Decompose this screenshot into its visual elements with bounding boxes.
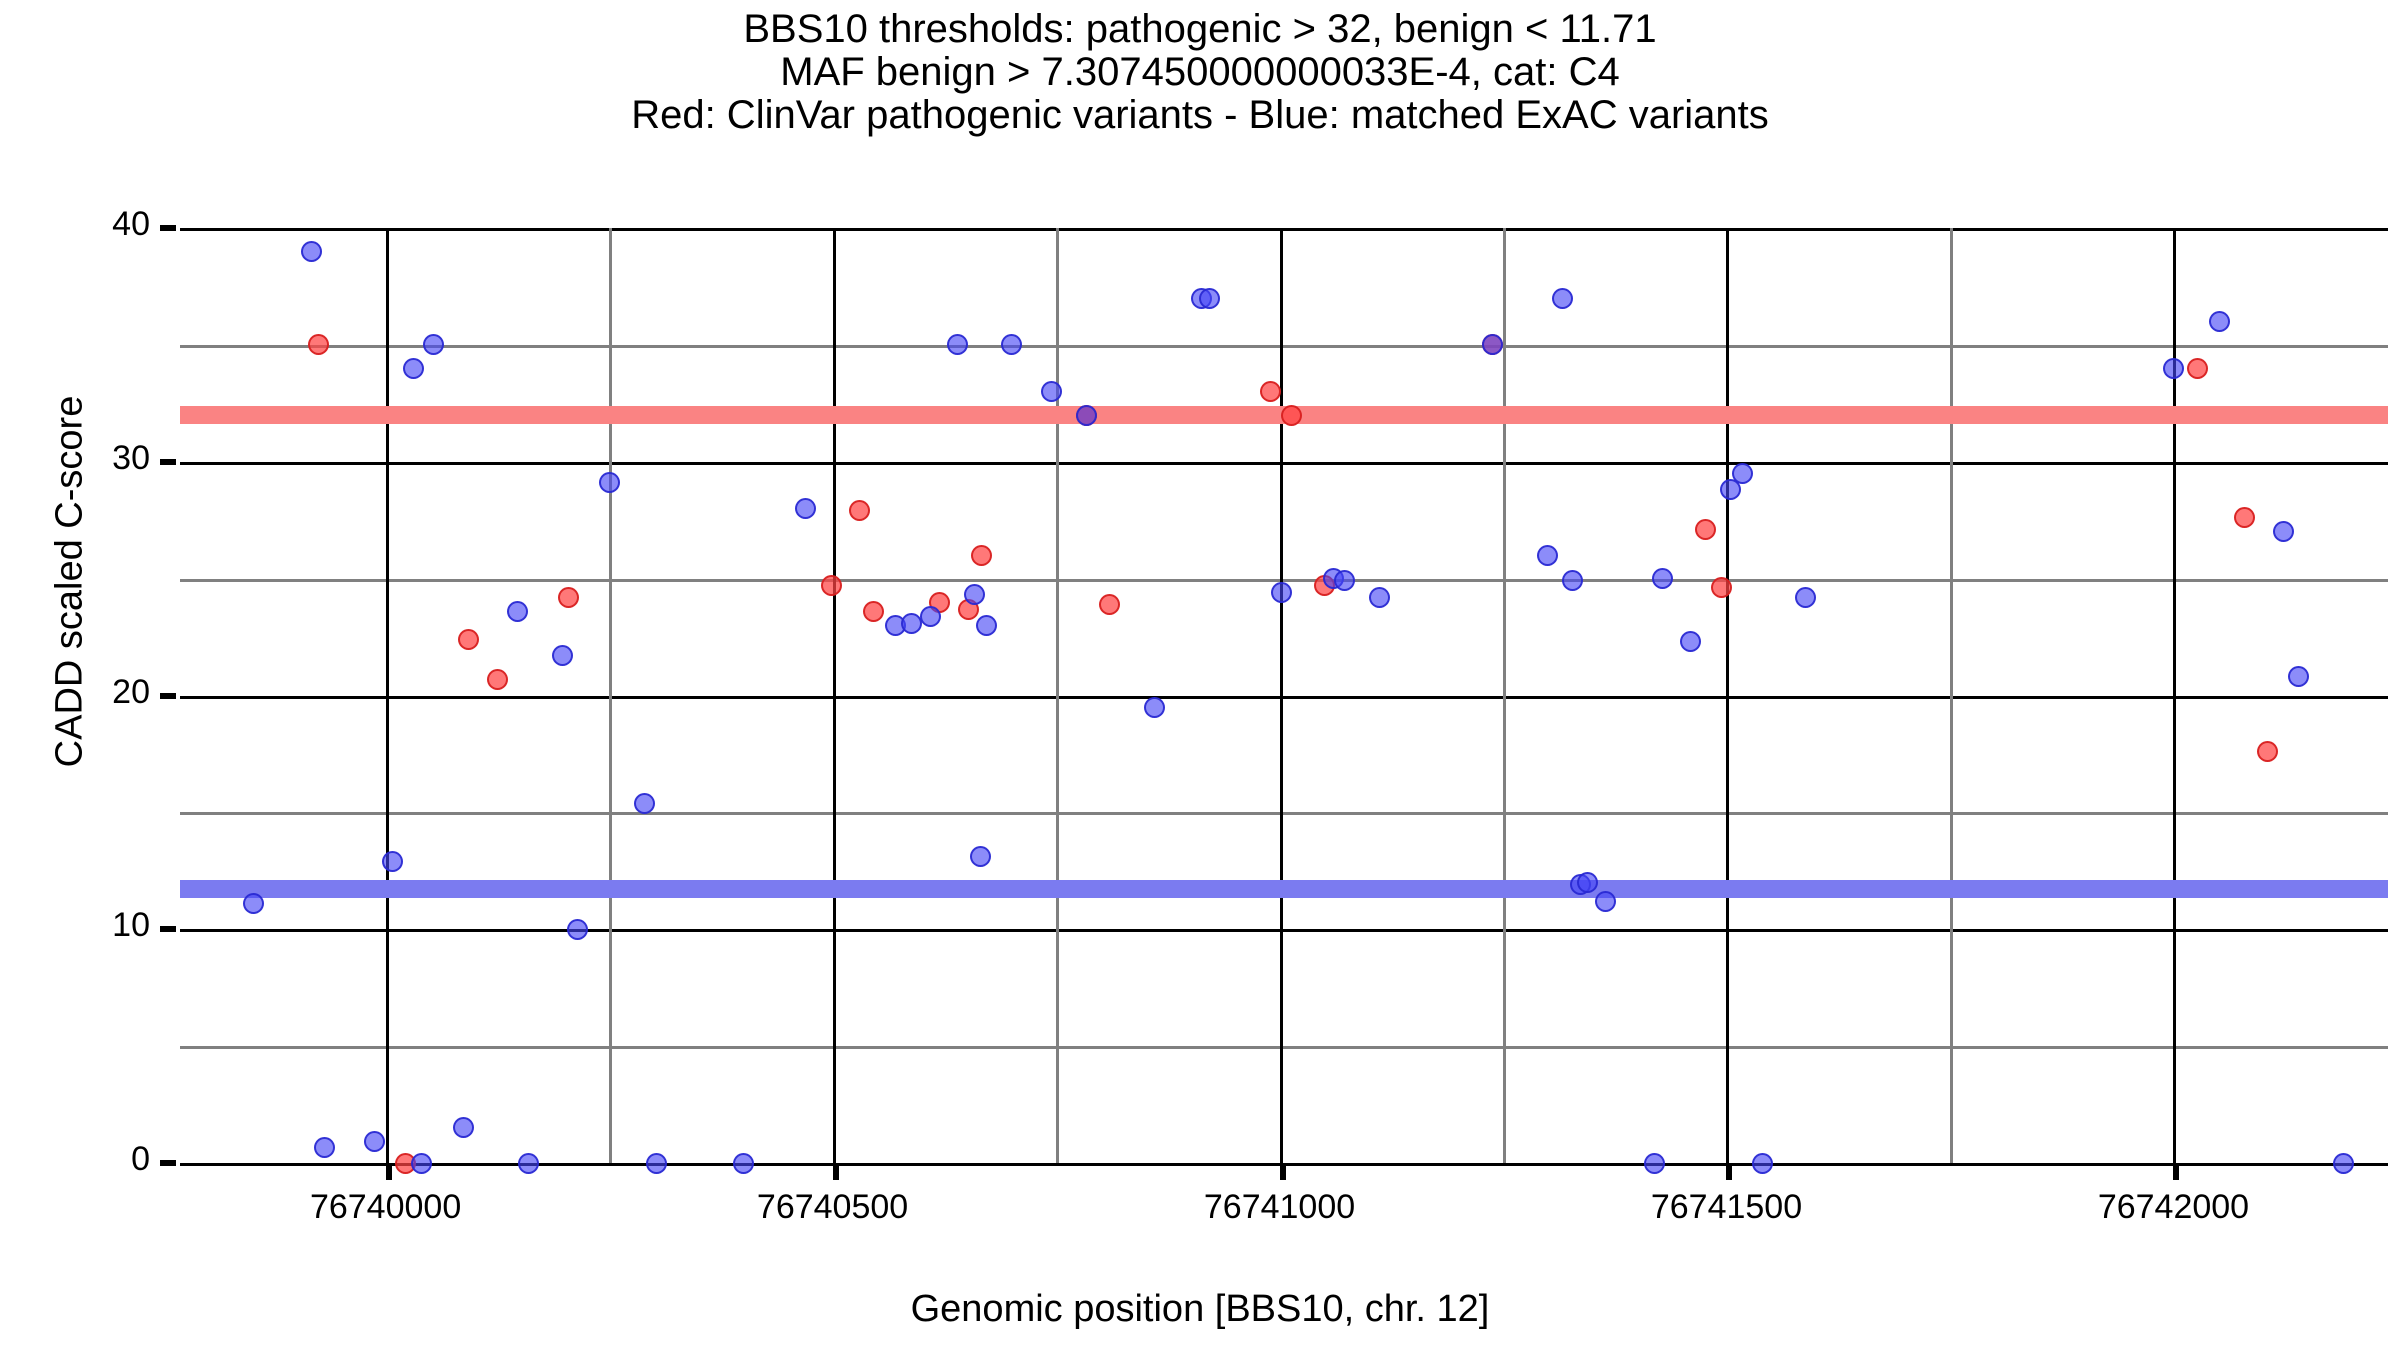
data-point-exac — [453, 1117, 474, 1138]
data-point-pathogenic — [1260, 381, 1281, 402]
x-tick-label: 76742000 — [2098, 1188, 2249, 1227]
data-point-pathogenic — [2187, 358, 2208, 379]
chart-title-line-1: BBS10 thresholds: pathogenic > 32, benig… — [0, 8, 2400, 51]
data-point-exac — [964, 584, 985, 605]
gridline-horizontal-minor — [180, 812, 2388, 815]
data-point-exac — [1652, 568, 1673, 589]
gridline-vertical-minor — [1950, 228, 1953, 1163]
gridline-vertical-major — [1280, 228, 1283, 1163]
x-tick-label: 76740500 — [757, 1188, 908, 1227]
data-point-pathogenic — [308, 334, 329, 355]
data-point-exac — [1795, 587, 1816, 608]
data-point-exac — [1537, 545, 1558, 566]
y-tick-mark — [160, 225, 176, 231]
plot-area — [180, 228, 2388, 1163]
x-tick-label: 76741000 — [1204, 1188, 1355, 1227]
x-axis-label: Genomic position [BBS10, chr. 12] — [0, 1288, 2400, 1331]
data-point-exac — [901, 613, 922, 634]
data-point-exac — [976, 615, 997, 636]
data-point-exac — [1144, 697, 1165, 718]
data-point-exac — [314, 1137, 335, 1158]
gridline-horizontal-major — [180, 1163, 2388, 1166]
data-point-pathogenic — [1711, 577, 1732, 598]
data-point-exac — [1076, 405, 1097, 426]
y-tick-label: 0 — [131, 1140, 150, 1179]
gridline-vertical-minor — [1056, 228, 1059, 1163]
data-point-exac — [364, 1131, 385, 1152]
data-point-exac — [2273, 521, 2294, 542]
data-point-exac — [1732, 463, 1753, 484]
gridline-horizontal-major — [180, 929, 2388, 932]
gridline-vertical-minor — [609, 228, 612, 1163]
chart-title-line-3: Red: ClinVar pathogenic variants - Blue:… — [0, 94, 2400, 137]
y-axis-label: CADD scaled C-score — [49, 182, 92, 982]
gridline-horizontal-minor — [180, 345, 2388, 348]
data-point-exac — [552, 645, 573, 666]
y-tick-mark — [160, 693, 176, 699]
data-point-exac — [733, 1153, 754, 1174]
data-point-exac — [1562, 570, 1583, 591]
data-point-exac — [243, 893, 264, 914]
data-point-pathogenic — [558, 587, 579, 608]
data-point-pathogenic — [821, 575, 842, 596]
threshold-band-benign — [180, 880, 2388, 898]
data-point-exac — [403, 358, 424, 379]
data-point-exac — [2333, 1153, 2354, 1174]
chart-title: BBS10 thresholds: pathogenic > 32, benig… — [0, 8, 2400, 137]
data-point-exac — [2288, 666, 2309, 687]
data-point-exac — [567, 919, 588, 940]
data-point-exac — [518, 1153, 539, 1174]
data-point-exac — [634, 793, 655, 814]
data-point-exac — [599, 472, 620, 493]
data-point-exac — [970, 846, 991, 867]
data-point-pathogenic — [1099, 594, 1120, 615]
gridline-vertical-major — [833, 228, 836, 1163]
x-tick-label: 76741500 — [1651, 1188, 1802, 1227]
y-tick-label: 20 — [112, 673, 150, 712]
data-point-exac — [301, 241, 322, 262]
data-point-exac — [947, 334, 968, 355]
data-point-pathogenic — [458, 629, 479, 650]
data-point-exac — [2163, 358, 2184, 379]
data-point-exac — [1369, 587, 1390, 608]
data-point-exac — [1334, 570, 1355, 591]
data-point-exac — [795, 498, 816, 519]
data-point-exac — [1752, 1153, 1773, 1174]
data-point-exac — [507, 601, 528, 622]
data-point-exac — [1482, 334, 1503, 355]
gridline-horizontal-major — [180, 696, 2388, 699]
y-tick-mark — [160, 926, 176, 932]
chart-title-line-2: MAF benign > 7.307450000000033E-4, cat: … — [0, 51, 2400, 94]
y-tick-mark — [160, 1160, 176, 1166]
data-point-exac — [920, 606, 941, 627]
y-tick-label: 10 — [112, 906, 150, 945]
data-point-pathogenic — [971, 545, 992, 566]
data-point-pathogenic — [1695, 519, 1716, 540]
data-point-pathogenic — [849, 500, 870, 521]
data-point-exac — [1595, 891, 1616, 912]
data-point-exac — [1001, 334, 1022, 355]
gridline-horizontal-minor — [180, 579, 2388, 582]
data-point-exac — [2209, 311, 2230, 332]
y-tick-mark — [160, 459, 176, 465]
x-tick-label: 76740000 — [310, 1188, 461, 1227]
gridline-horizontal-minor — [180, 1046, 2388, 1049]
data-point-pathogenic — [487, 669, 508, 690]
gridline-vertical-minor — [1503, 228, 1506, 1163]
data-point-pathogenic — [2257, 741, 2278, 762]
gridline-vertical-major — [1726, 228, 1729, 1163]
data-point-pathogenic — [2234, 507, 2255, 528]
data-point-exac — [646, 1153, 667, 1174]
gridline-horizontal-major — [180, 228, 2388, 231]
data-point-exac — [382, 851, 403, 872]
gridline-horizontal-major — [180, 462, 2388, 465]
data-point-pathogenic — [1281, 405, 1302, 426]
gridline-vertical-major — [386, 228, 389, 1163]
data-point-exac — [1271, 582, 1292, 603]
y-tick-label: 30 — [112, 439, 150, 478]
data-point-exac — [1199, 288, 1220, 309]
scatter-plot-figure: BBS10 thresholds: pathogenic > 32, benig… — [0, 0, 2400, 1350]
data-point-exac — [423, 334, 444, 355]
y-tick-label: 40 — [112, 205, 150, 244]
data-point-exac — [411, 1153, 432, 1174]
data-point-exac — [1644, 1153, 1665, 1174]
data-point-pathogenic — [863, 601, 884, 622]
data-point-exac — [1552, 288, 1573, 309]
data-point-exac — [1680, 631, 1701, 652]
